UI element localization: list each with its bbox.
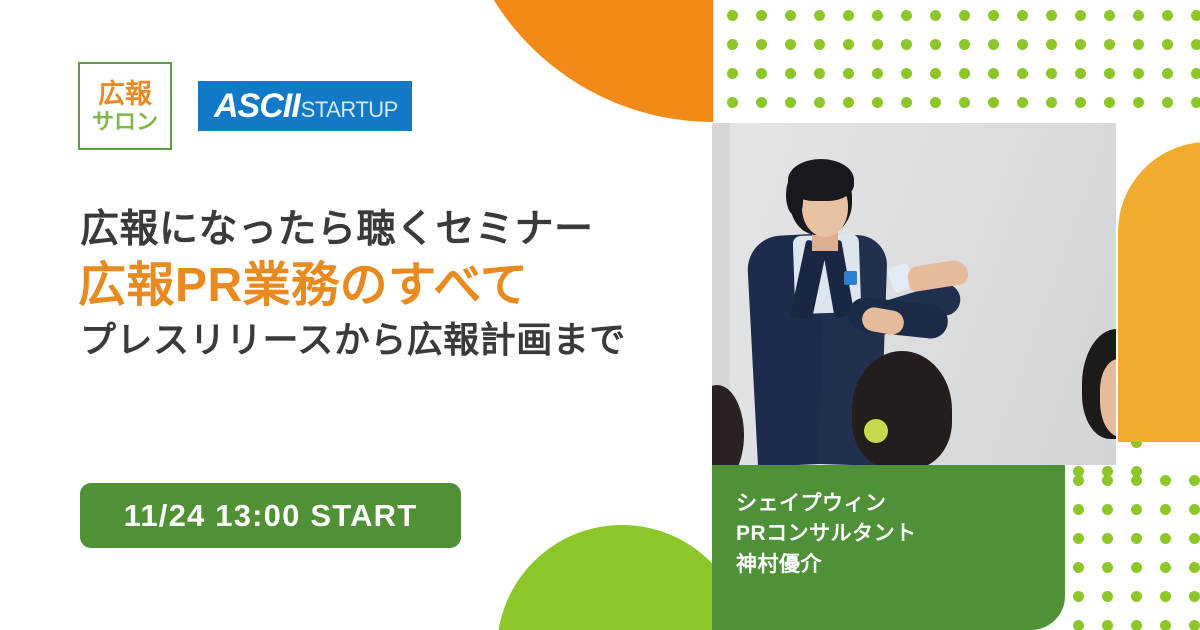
dot	[1160, 591, 1171, 602]
dot	[959, 68, 970, 79]
dot	[930, 97, 941, 108]
photo-audience-hair-clip	[864, 419, 888, 443]
dot	[1191, 10, 1200, 21]
dot	[785, 10, 796, 21]
dot	[988, 97, 999, 108]
dot	[814, 39, 825, 50]
speaker-company: シェイプウィン	[736, 489, 1065, 519]
dot	[1133, 39, 1144, 50]
dot	[1075, 97, 1086, 108]
dot	[1017, 39, 1028, 50]
dot	[901, 68, 912, 79]
dot	[930, 10, 941, 21]
dot	[727, 39, 738, 50]
dot	[843, 97, 854, 108]
dot	[1160, 475, 1171, 486]
dot	[1189, 591, 1200, 602]
dot	[785, 97, 796, 108]
dot	[1075, 68, 1086, 79]
dot	[843, 10, 854, 21]
dot	[1102, 475, 1113, 486]
ascii-startup-logo[interactable]: ASCII STARTUP	[198, 81, 412, 131]
dot	[1073, 504, 1084, 515]
dot	[901, 39, 912, 50]
dot	[1133, 68, 1144, 79]
dot	[1133, 97, 1144, 108]
headline-block: 広報になったら聴くセミナー 広報PR業務のすべて プレスリリースから広報計画まで	[80, 206, 680, 363]
headline-line-2: 広報PR業務のすべて	[78, 256, 680, 316]
dot	[1131, 591, 1142, 602]
dot	[1075, 39, 1086, 50]
dot	[988, 39, 999, 50]
date-time-badge[interactable]: 11/24 13:00 START	[80, 483, 461, 548]
dot	[930, 39, 941, 50]
dot	[1191, 39, 1200, 50]
dot	[727, 10, 738, 21]
dot	[872, 39, 883, 50]
dot	[1073, 591, 1084, 602]
dot	[756, 39, 767, 50]
photo-audience-center-head	[852, 351, 952, 465]
dot	[1073, 475, 1084, 486]
dot	[988, 68, 999, 79]
dot	[1189, 475, 1200, 486]
dot	[843, 39, 854, 50]
dot	[901, 10, 912, 21]
dot	[1160, 533, 1171, 544]
dot	[959, 97, 970, 108]
dot	[959, 10, 970, 21]
dot	[1189, 504, 1200, 515]
dot	[1189, 562, 1200, 573]
orange-quarter-circle-shape	[455, 0, 713, 122]
dot	[727, 97, 738, 108]
dot	[1073, 620, 1084, 630]
kouhou-salon-logo-line1: 広報	[98, 80, 152, 108]
kouhou-salon-logo[interactable]: 広報 サロン	[78, 62, 172, 150]
headline-line-1: 広報になったら聴くセミナー	[80, 206, 680, 254]
speaker-name: 神村優介	[736, 550, 1065, 580]
green-dot-grid-bottom	[1073, 475, 1200, 630]
ascii-logo-primary: ASCII	[214, 89, 300, 123]
dot	[1131, 533, 1142, 544]
dot	[1075, 10, 1086, 21]
dot	[843, 68, 854, 79]
headline-line-3: プレスリリースから広報計画まで	[80, 318, 680, 363]
speaker-title: PRコンサルタント	[736, 519, 1065, 549]
dot	[1189, 533, 1200, 544]
dot	[785, 68, 796, 79]
photo-speaker-hair-side	[786, 175, 803, 215]
dot	[1131, 475, 1142, 486]
dot	[1162, 39, 1173, 50]
dot	[727, 68, 738, 79]
ascii-logo-secondary: STARTUP	[301, 99, 398, 121]
dot	[1104, 68, 1115, 79]
photo-speaker-name-badge	[844, 271, 857, 285]
dot	[1046, 10, 1057, 21]
green-dome-shape	[497, 525, 747, 630]
dot	[756, 97, 767, 108]
dot	[1102, 620, 1113, 630]
dot	[1191, 68, 1200, 79]
dot	[988, 10, 999, 21]
dot	[1189, 620, 1200, 630]
dot	[756, 68, 767, 79]
amber-arch-shape	[1118, 142, 1200, 442]
kouhou-salon-logo-line2: サロン	[92, 109, 158, 134]
dot	[1017, 10, 1028, 21]
speaker-photo	[712, 123, 1116, 465]
dot	[1102, 504, 1113, 515]
logo-row: 広報 サロン ASCII STARTUP	[78, 62, 412, 150]
dot	[814, 68, 825, 79]
dot	[1133, 10, 1144, 21]
dot	[1046, 68, 1057, 79]
dot	[1046, 97, 1057, 108]
dot	[814, 10, 825, 21]
green-dot-grid-top	[727, 10, 1200, 122]
dot	[1104, 39, 1115, 50]
dot	[1073, 533, 1084, 544]
dot	[1104, 97, 1115, 108]
dot	[872, 68, 883, 79]
dot	[1017, 68, 1028, 79]
dot	[1160, 620, 1171, 630]
dot	[785, 39, 796, 50]
dot	[959, 39, 970, 50]
dot	[814, 97, 825, 108]
dot	[1162, 97, 1173, 108]
dot	[872, 97, 883, 108]
dot	[1102, 533, 1113, 544]
dot	[930, 68, 941, 79]
dot	[1162, 10, 1173, 21]
dot	[1131, 620, 1142, 630]
dot	[1131, 562, 1142, 573]
dot	[1073, 562, 1084, 573]
dot	[1017, 97, 1028, 108]
dot	[1046, 39, 1057, 50]
dot	[1102, 591, 1113, 602]
dot	[1160, 562, 1171, 573]
dot	[872, 10, 883, 21]
date-time-badge-label: 11/24 13:00 START	[124, 498, 418, 534]
banner-canvas: 広報 サロン ASCII STARTUP 広報になったら聴くセミナー 広報PR業…	[0, 0, 1200, 630]
dot	[1104, 10, 1115, 21]
dot	[1102, 562, 1113, 573]
dot	[901, 97, 912, 108]
dot	[1131, 504, 1142, 515]
dot	[756, 10, 767, 21]
dot	[1191, 97, 1200, 108]
dot	[1160, 504, 1171, 515]
dot	[1162, 68, 1173, 79]
speaker-info-panel: シェイプウィン PRコンサルタント 神村優介	[712, 465, 1065, 630]
